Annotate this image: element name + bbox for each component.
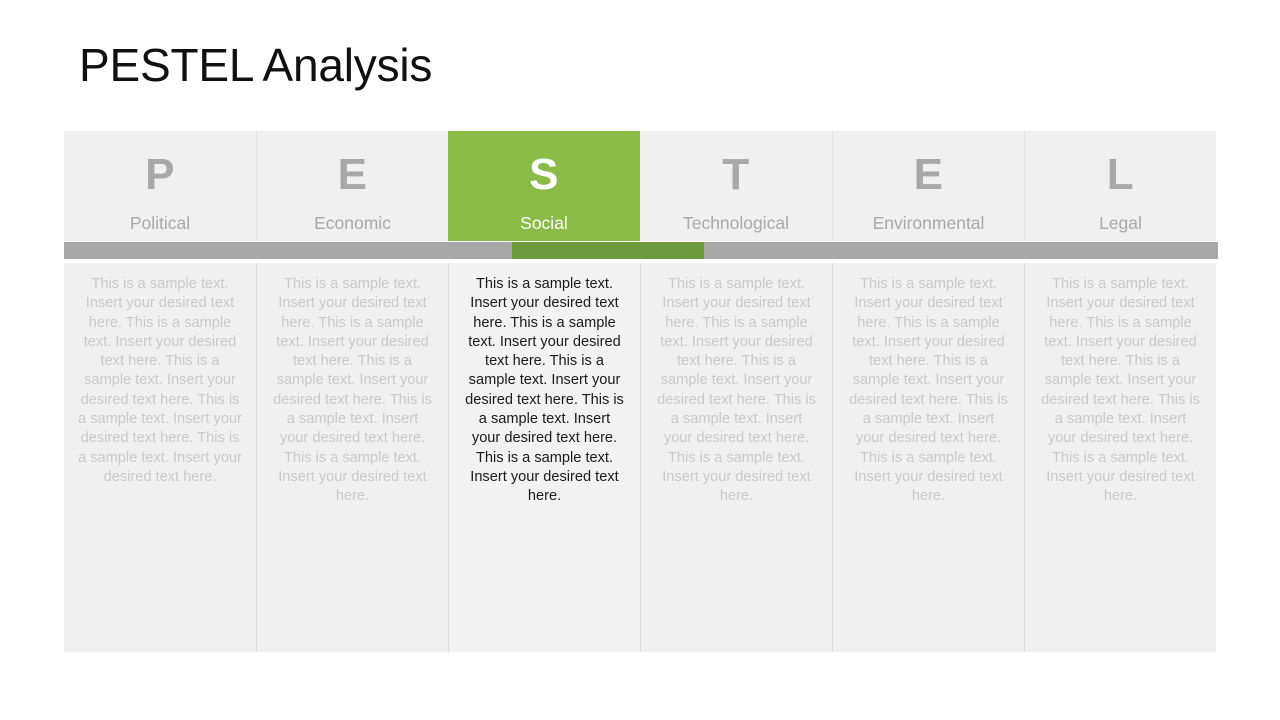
pestel-body-row: This is a sample text. Insert your desir… bbox=[64, 263, 1216, 652]
page-title: PESTEL Analysis bbox=[79, 40, 432, 91]
pestel-label-technological: Technological bbox=[683, 213, 789, 234]
pestel-label-economic: Economic bbox=[314, 213, 391, 234]
accent-bar-left-grey bbox=[64, 242, 512, 259]
pestel-header-legal[interactable]: L Legal bbox=[1024, 131, 1216, 241]
pestel-body-social[interactable]: This is a sample text. Insert your desir… bbox=[448, 263, 640, 652]
pestel-letter-economic: E bbox=[338, 153, 368, 197]
pestel-body-political[interactable]: This is a sample text. Insert your desir… bbox=[64, 263, 256, 652]
pestel-text-technological: This is a sample text. Insert your desir… bbox=[655, 275, 818, 507]
pestel-letter-environmental: E bbox=[914, 153, 944, 197]
pestel-text-environmental: This is a sample text. Insert your desir… bbox=[847, 275, 1010, 507]
pestel-header-economic[interactable]: E Economic bbox=[256, 131, 448, 241]
pestel-header-political[interactable]: P Political bbox=[64, 131, 256, 241]
pestel-diagram: P Political E Economic S Social T Techno… bbox=[64, 131, 1218, 652]
pestel-letter-social: S bbox=[529, 153, 559, 197]
pestel-letter-technological: T bbox=[722, 153, 749, 197]
pestel-body-environmental[interactable]: This is a sample text. Insert your desir… bbox=[832, 263, 1024, 652]
accent-bar-social-green bbox=[512, 242, 704, 259]
pestel-text-political: This is a sample text. Insert your desir… bbox=[78, 275, 242, 487]
pestel-label-legal: Legal bbox=[1099, 213, 1142, 234]
pestel-body-economic[interactable]: This is a sample text. Insert your desir… bbox=[256, 263, 448, 652]
pestel-label-environmental: Environmental bbox=[873, 213, 985, 234]
pestel-text-legal: This is a sample text. Insert your desir… bbox=[1039, 275, 1202, 507]
pestel-body-technological[interactable]: This is a sample text. Insert your desir… bbox=[640, 263, 832, 652]
pestel-label-social: Social bbox=[520, 213, 568, 234]
pestel-header-technological[interactable]: T Technological bbox=[640, 131, 832, 241]
pestel-letter-legal: L bbox=[1107, 153, 1134, 197]
pestel-label-political: Political bbox=[130, 213, 190, 234]
pestel-header-row: P Political E Economic S Social T Techno… bbox=[64, 131, 1216, 241]
slide-canvas: PESTEL Analysis P Political E Economic S… bbox=[0, 0, 1280, 720]
pestel-body-legal[interactable]: This is a sample text. Insert your desir… bbox=[1024, 263, 1216, 652]
pestel-header-social[interactable]: S Social bbox=[448, 131, 640, 241]
pestel-text-social: This is a sample text. Insert your desir… bbox=[463, 275, 626, 507]
pestel-header-environmental[interactable]: E Environmental bbox=[832, 131, 1024, 241]
pestel-text-economic: This is a sample text. Insert your desir… bbox=[271, 275, 434, 507]
accent-bar-right-grey bbox=[704, 242, 1218, 259]
pestel-accent-band bbox=[64, 242, 1218, 259]
pestel-letter-political: P bbox=[145, 153, 175, 197]
